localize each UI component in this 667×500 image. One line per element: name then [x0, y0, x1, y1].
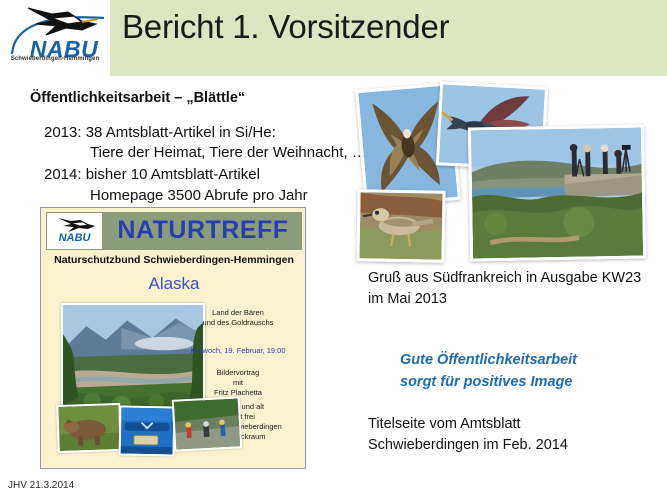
poster-talk: BildervortragmitFritz Plachetta	[173, 368, 303, 398]
poster-banner: NABU NATURTREFF	[46, 212, 302, 250]
bullet-line-2014: 2014: bisher 10 Amtsblatt-Artikel	[44, 166, 260, 183]
stork-icon	[22, 4, 100, 40]
photo-collage	[355, 86, 645, 266]
caption-highlight: Gute Öffentlichkeitsarbeitsorgt für posi…	[400, 349, 577, 393]
bullet-line-2014-detail: Homepage 3500 Abrufe pro Jahr	[90, 187, 308, 204]
hikers-photo	[172, 396, 243, 451]
page-title: Bericht 1. Vorsitzender	[122, 8, 449, 46]
poster-date: Mittwoch, 19. Februar, 19:00	[173, 346, 303, 356]
poster-banner-title: NATURTREFF	[104, 216, 302, 245]
bear-photo	[56, 403, 122, 453]
caption-amtsblatt: Titelseite vom AmtsblattSchwieberdingen …	[368, 414, 568, 456]
bullet-line-2013-detail: Tiere der Heimat, Tiere der Weihnacht, …	[90, 144, 367, 161]
nabu-logo-subtitle: Schwieberdingen-Hemmingen	[0, 56, 110, 62]
naturtreff-poster-image: NABU NATURTREFF Naturschutzbund Schwiebe…	[40, 207, 306, 469]
nabu-logo: NABU Schwieberdingen-Hemmingen	[0, 0, 110, 76]
section-heading: Öffentlichkeitsarbeit – „Blättle“	[30, 90, 245, 106]
poster-nabu-logo: NABU	[47, 213, 102, 249]
birdwatchers-landscape-photo	[468, 124, 646, 261]
stone-curlew-photo	[356, 189, 445, 263]
poster-organisation: Naturschutzbund Schwieberdingen-Hemminge…	[46, 254, 302, 266]
poster-subtitle: Land der Bärenund des Goldrauschs	[173, 308, 303, 328]
bullet-line-2013: 2013: 38 Amtsblatt-Artikel in Si/He:	[44, 124, 276, 141]
poster-topic: Alaska	[46, 274, 302, 294]
caption-france: Gruß aus Südfrankreich in Ausgabe KW23im…	[368, 268, 641, 310]
slide-footer: JHV 21.3.2014	[8, 480, 74, 491]
blue-car-photo	[119, 406, 176, 457]
poster-logo-wordmark: NABU	[47, 232, 102, 244]
